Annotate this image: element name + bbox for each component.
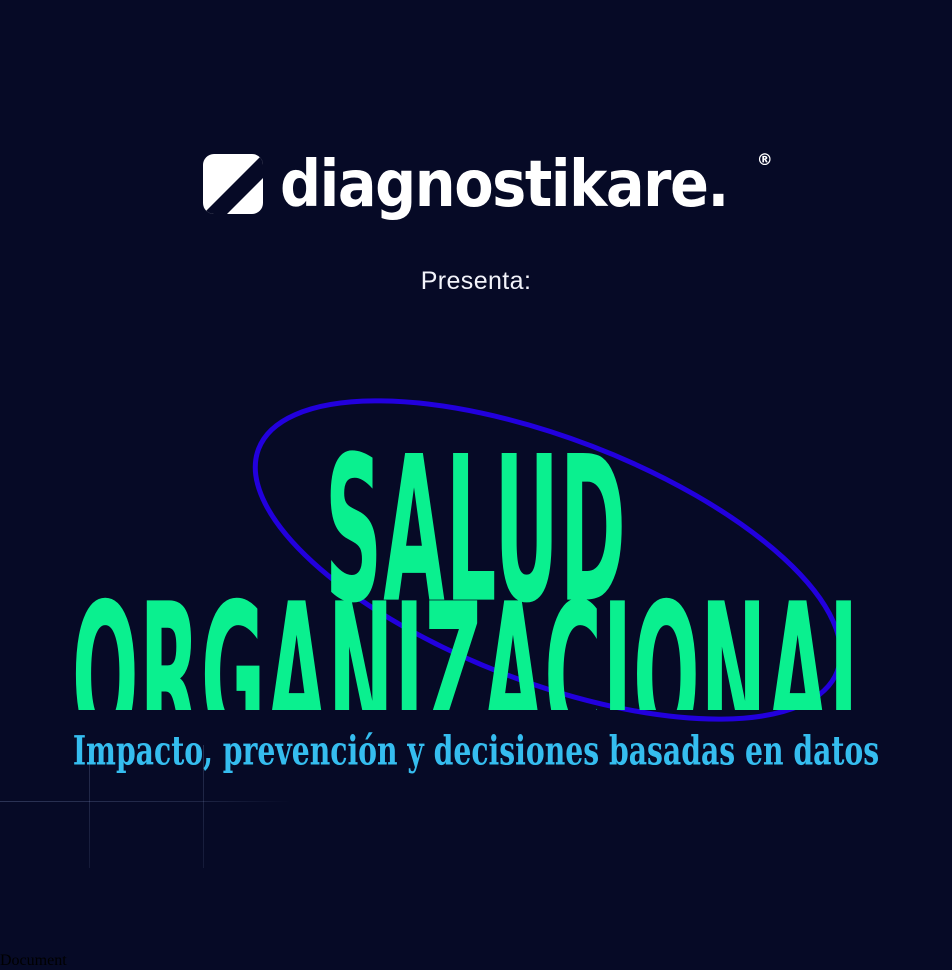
subtitle-svg: Impacto, prevención y decisiones basadas…: [0, 722, 952, 778]
subtitle-block: Impacto, prevención y decisiones basadas…: [0, 722, 952, 778]
presentation-title-slide: diagnostikare. ® Presenta: SALUD ORGANIZ…: [0, 0, 952, 952]
brand-row: diagnostikare. ®: [203, 148, 750, 228]
brand-wordmark-label: diagnostikare.: [280, 150, 728, 222]
headline-line-2: ORGANIZACIONAL: [72, 560, 880, 710]
brand-wordmark-text: diagnostikare.: [280, 150, 750, 228]
brand-wordmark: diagnostikare. ®: [280, 150, 750, 228]
grid-horizontal-line: [0, 801, 291, 802]
subtitle-text: Impacto, prevención y decisiones basadas…: [73, 726, 879, 774]
headline-block: SALUD ORGANIZACIONAL: [0, 420, 952, 710]
registered-trademark-icon: ®: [757, 152, 772, 168]
diagonal-slash-square-icon: [203, 154, 263, 214]
brand-lockup: diagnostikare. ®: [0, 148, 952, 228]
presenta-label: Presenta:: [0, 267, 952, 296]
headline-svg: SALUD ORGANIZACIONAL: [0, 420, 952, 710]
